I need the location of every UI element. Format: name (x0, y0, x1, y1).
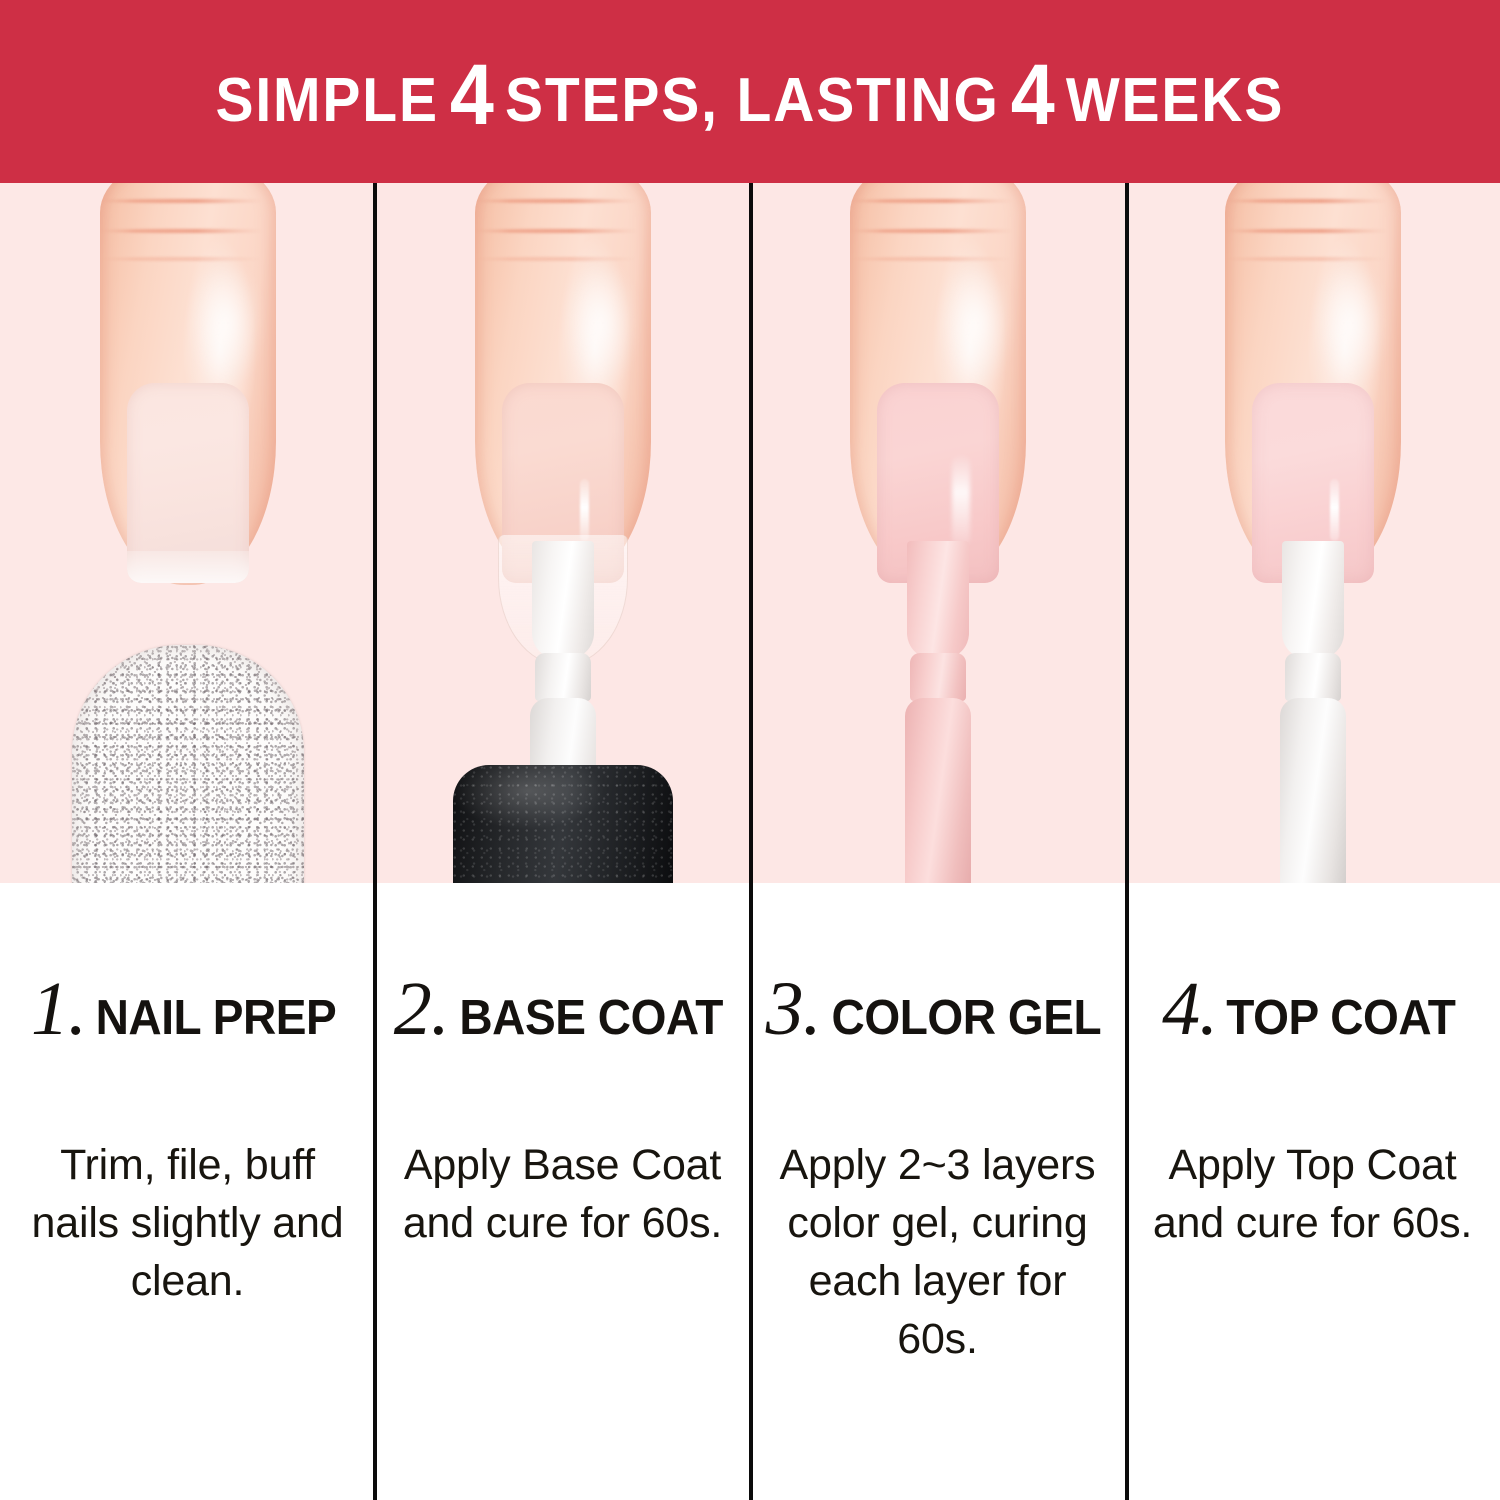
step-1-description: Trim, file, buff nails slightly and clea… (22, 1136, 353, 1310)
step-3-heading: 3. COLOR GEL (750, 971, 1125, 1047)
nail-free-edge (127, 551, 249, 583)
brush-neck (1285, 653, 1341, 701)
brush-bristle-core (532, 541, 594, 659)
header-title: SIMPLE 4 STEPS, LASTING 4 WEEKS (216, 49, 1285, 135)
step-2-photo (375, 183, 750, 883)
step-3-photo (750, 183, 1125, 883)
step-number: 3. (766, 971, 821, 1047)
knuckle-crease (100, 229, 276, 233)
step-4-photo (1125, 183, 1500, 883)
panel-divider (373, 183, 377, 1500)
step-2-description: Apply Base Coat and cure for 60s. (397, 1136, 728, 1252)
panel-divider (749, 183, 753, 1500)
knuckle-crease (475, 229, 651, 233)
nail-gloss-highlight (952, 455, 970, 547)
header-part-three: WEEKS (1066, 70, 1284, 132)
step-4-description: Apply Top Coat and cure for 60s. (1147, 1136, 1478, 1252)
natural-nail (127, 383, 249, 583)
skin-highlight (566, 259, 636, 387)
skin-highlight (941, 259, 1011, 387)
brush-neck (535, 653, 591, 701)
step-label: NAIL PREP (94, 994, 337, 1043)
step-label: TOP COAT (1224, 994, 1455, 1043)
step-1-heading: 1. NAIL PREP (0, 971, 375, 1047)
header-banner: SIMPLE 4 STEPS, LASTING 4 WEEKS (0, 0, 1500, 183)
step-label: BASE COAT (457, 994, 722, 1043)
brush-bristle-core (907, 541, 969, 659)
header-part-two: STEPS, LASTING (505, 70, 1000, 132)
black-bottle-cap (453, 765, 673, 883)
brush-handle (1280, 698, 1346, 883)
nail-file-icon (72, 645, 304, 883)
header-part-one: SIMPLE (216, 70, 439, 132)
brush-handle (905, 698, 971, 883)
step-number: 2. (394, 971, 449, 1047)
knuckle-crease (1225, 229, 1401, 233)
header-number-steps: 4 (439, 52, 505, 138)
step-4-heading: 4. TOP COAT (1125, 971, 1500, 1047)
step-2-text: 2. BASE COAT Apply Base Coat and cure fo… (375, 883, 750, 1500)
skin-highlight (191, 259, 261, 387)
panel-divider (1125, 183, 1129, 1500)
cap-texture (453, 765, 673, 883)
knuckle-crease (100, 199, 276, 203)
knuckle-crease (1225, 199, 1401, 203)
step-number: 1. (31, 971, 86, 1047)
step-3-description: Apply 2~3 layers color gel, curing each … (772, 1136, 1103, 1368)
step-1-photo (0, 183, 375, 883)
knuckle-crease (850, 229, 1026, 233)
skin-highlight (1316, 259, 1386, 387)
nail-steps-infographic: SIMPLE 4 STEPS, LASTING 4 WEEKS (0, 0, 1500, 1500)
header-number-weeks: 4 (1000, 52, 1066, 138)
nail-gloss-highlight (1330, 479, 1339, 541)
step-label: COLOR GEL (829, 994, 1100, 1043)
step-1-text: 1. NAIL PREP Trim, file, buff nails slig… (0, 883, 375, 1500)
step-2-heading: 2. BASE COAT (375, 971, 750, 1047)
brush-neck (910, 653, 966, 701)
knuckle-crease (850, 199, 1026, 203)
step-3-text: 3. COLOR GEL Apply 2~3 layers color gel,… (750, 883, 1125, 1500)
knuckle-crease (475, 199, 651, 203)
brush-bristle-core (1282, 541, 1344, 659)
step-number: 4. (1162, 971, 1217, 1047)
nail-gloss-highlight (580, 479, 589, 541)
step-4-text: 4. TOP COAT Apply Top Coat and cure for … (1125, 883, 1500, 1500)
